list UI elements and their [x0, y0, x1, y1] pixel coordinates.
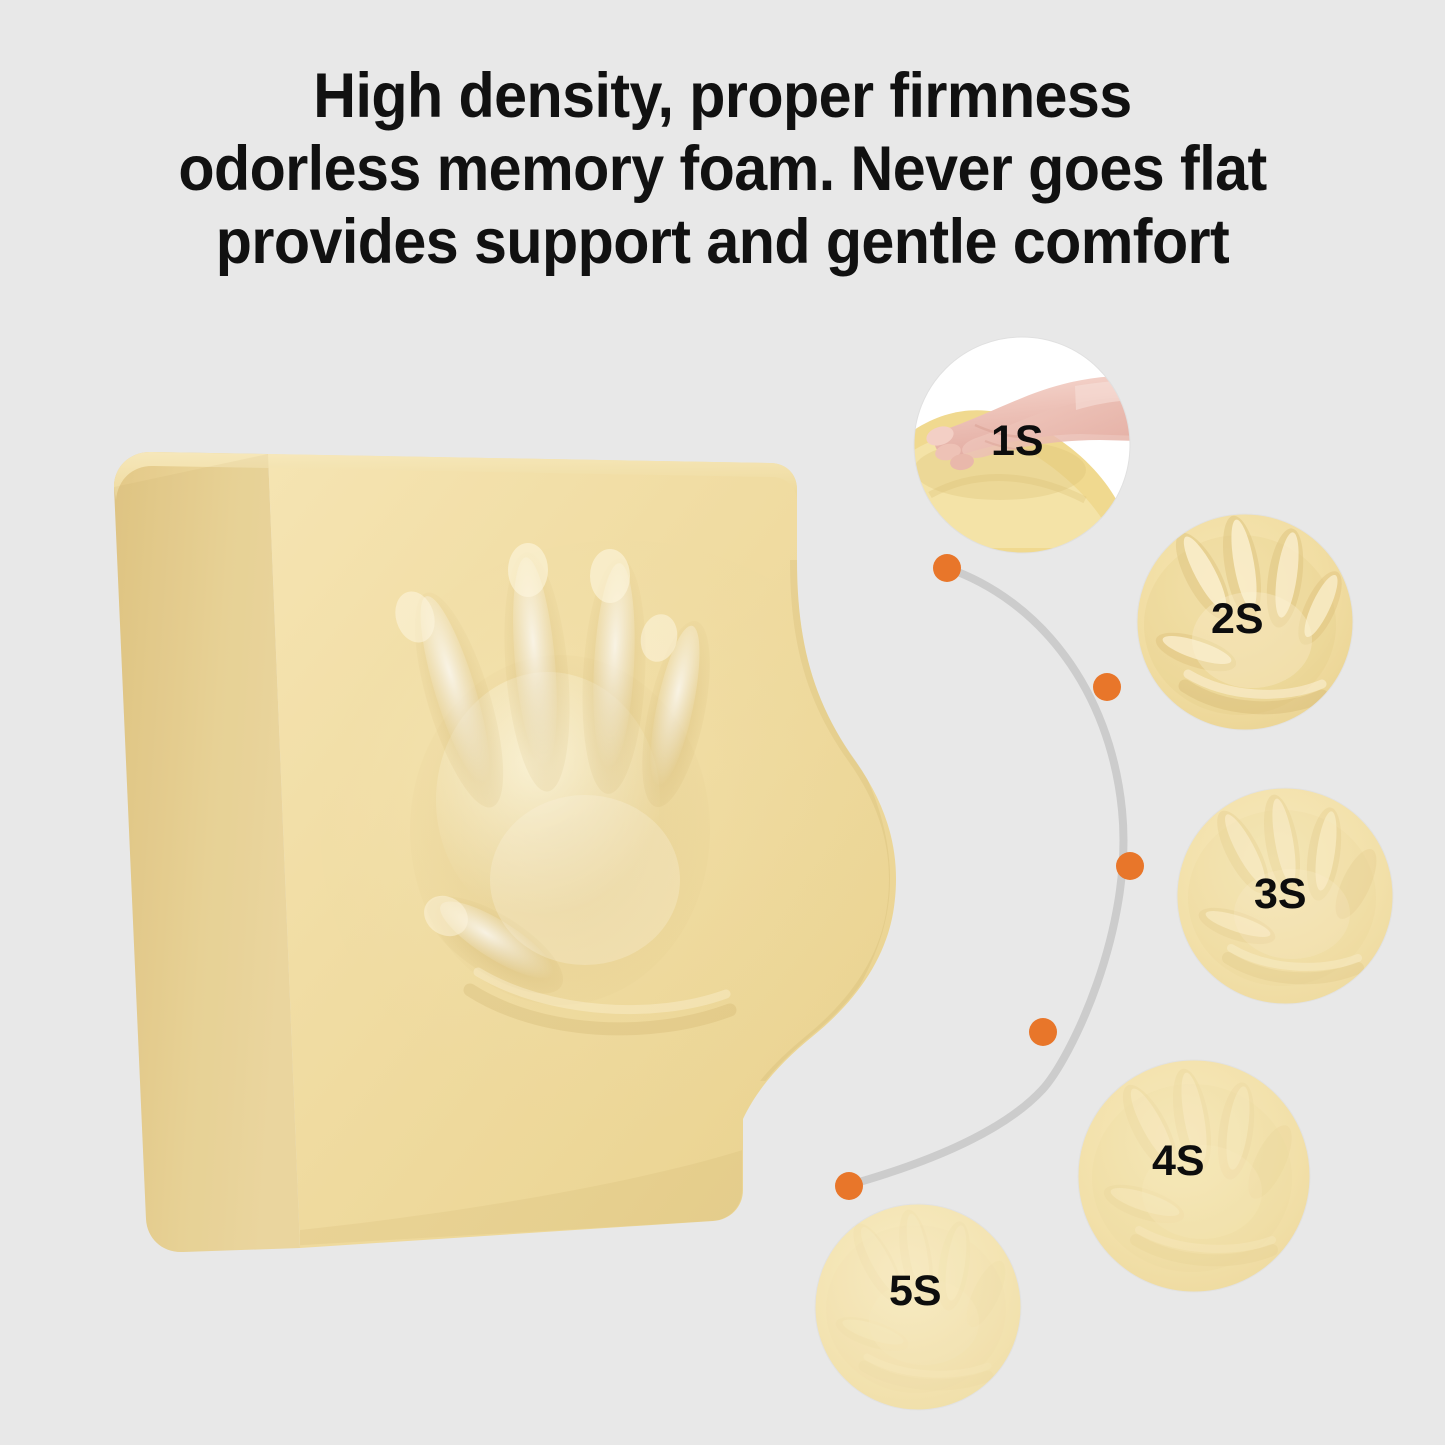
step-label-1s: 1S [991, 420, 1044, 463]
pillow-left-shadow [114, 454, 300, 1252]
wedge-pillow-illustration [114, 452, 920, 1252]
artwork-layer [0, 0, 1445, 1445]
infographic-canvas: High density, proper firmness odorless m… [0, 0, 1445, 1445]
palm-pad [490, 795, 680, 965]
step-label-3s: 3S [1254, 873, 1307, 916]
step-label-2s: 2S [1211, 598, 1264, 641]
arc-dot-4 [1029, 1018, 1057, 1046]
arc-dot-1 [933, 554, 961, 582]
arc-dot-5 [835, 1172, 863, 1200]
step-label-4s: 4S [1152, 1140, 1205, 1183]
step-label-5s: 5S [889, 1270, 942, 1313]
arc-dot-3 [1116, 852, 1144, 880]
arc-dot-2 [1093, 673, 1121, 701]
